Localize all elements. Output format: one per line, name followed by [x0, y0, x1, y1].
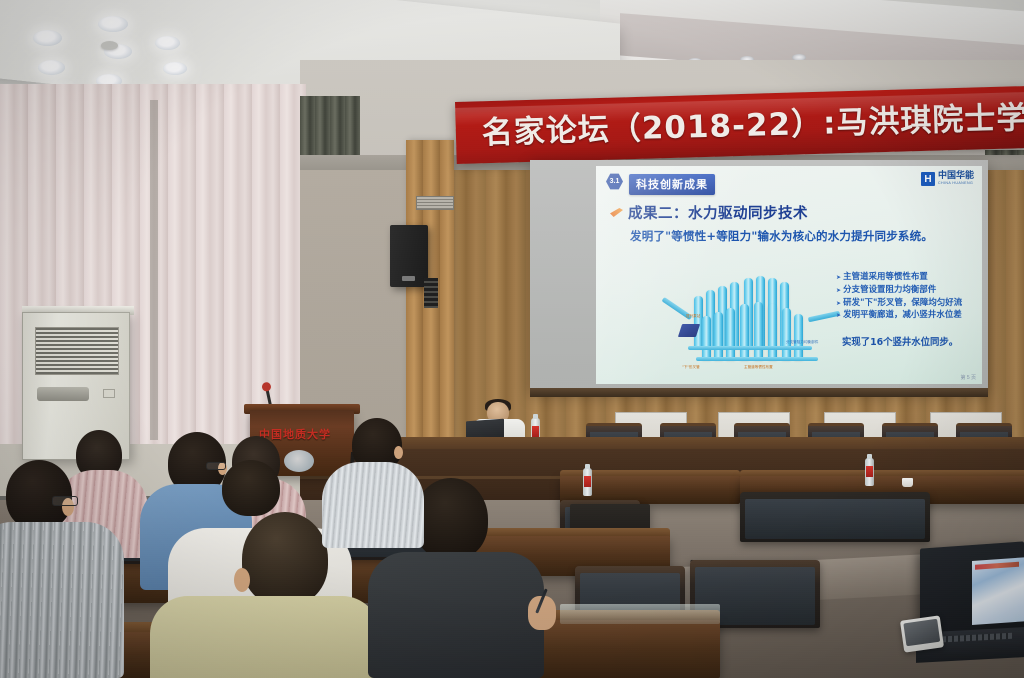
audience-chair[interactable]: [740, 492, 930, 542]
smoke-detector: [101, 41, 118, 50]
diagram-shaft: [754, 302, 763, 360]
lecture-hall-photo: 名家论坛（2018-22）:马洪琪院士学术报告会 3.1 科技创新成果 H 中国…: [0, 0, 1024, 678]
person-head: [242, 512, 328, 606]
diagram-main-pipe: [696, 357, 818, 361]
diagram-main-pipe: [688, 346, 812, 350]
person-torso: [150, 596, 380, 678]
air-conditioner-control-panel[interactable]: [37, 387, 89, 401]
huaneng-logo-mark: H: [921, 172, 935, 186]
ceiling-downlight: [33, 30, 62, 46]
huaneng-logo-cn: 中国华能: [938, 172, 974, 181]
projection-screen-frame: 3.1 科技创新成果 H 中国华能 CHINA HUANENG 成果二：水力驱动…: [530, 160, 988, 392]
huaneng-logo-en: CHINA HUANENG: [938, 182, 974, 186]
projected-slide: 3.1 科技创新成果 H 中国华能 CHINA HUANENG 成果二：水力驱动…: [596, 166, 982, 384]
ceiling-downlight: [38, 60, 65, 75]
slide-subtitle: 发明了"等惯性+等阻力"输水为核心的水力提升同步系统。: [630, 228, 933, 244]
slide-bullet: 发明平衡廊道，减小竖井水位差: [836, 308, 976, 321]
person-torso: [368, 552, 544, 678]
person-head: [414, 478, 488, 560]
slide-bullet: 分支管设置阻力均衡部件: [836, 283, 976, 296]
air-conditioner-grille: [35, 327, 119, 375]
slide-section-number: 3.1: [606, 173, 623, 190]
diagram-label: 主管道等惯性布置: [744, 365, 773, 370]
slide-bullet-list: 主管道采用等惯性布置 分支管设置阻力均衡部件 研发"下"形叉管，保障均匀好流 发…: [836, 270, 976, 321]
smartphone[interactable]: [900, 615, 944, 652]
huaneng-logo: H 中国华能 CHINA HUANENG: [921, 172, 974, 186]
ceiling-downlight: [98, 16, 128, 32]
slide-page-number: 第 5 页: [960, 374, 976, 381]
slide-bullet: 研发"下"形叉管，保障均匀好流: [836, 296, 976, 309]
eyeglasses: [206, 462, 226, 470]
slide-conclusion: 实现了16个竖井水位同步。: [842, 334, 958, 348]
ceiling-downlight: [155, 36, 180, 50]
diagram-shaft: [714, 312, 723, 360]
person-ear: [234, 568, 250, 592]
diagram-label: 分支管阻力均衡部件: [786, 340, 818, 345]
diagram-label: "下"形叉管: [682, 365, 700, 370]
water-bottle[interactable]: [865, 458, 874, 486]
person-torso: [0, 522, 124, 678]
speaker-cable: [424, 278, 438, 308]
person-torso: [322, 462, 424, 548]
slide-bullet: 主管道采用等惯性布置: [836, 270, 976, 283]
diagram-shaft: [726, 308, 735, 360]
banner-title: 名家论坛（2018-22）:马洪琪院士学术报告会: [481, 88, 1024, 152]
slide-diagram: 提升泵站 "下"形叉管 主管道等惯性布置 分支管阻力均衡部件: [658, 262, 838, 366]
desk-glass-top: [560, 604, 720, 624]
podium-label: 中国地质大学: [259, 426, 331, 442]
diagram-label: 提升泵站: [686, 314, 700, 319]
water-bottle[interactable]: [583, 468, 592, 496]
slide-section-title: 科技创新成果: [629, 174, 715, 195]
speaker-badge: [402, 276, 415, 281]
diagram-shaft: [768, 304, 777, 360]
person-head: [222, 460, 280, 516]
air-conditioner-display: [103, 389, 115, 398]
person-ear: [394, 446, 403, 459]
diagram-shaft: [740, 304, 749, 360]
window-mullion: [150, 100, 158, 440]
diagram-shaft: [782, 308, 791, 360]
wall-speaker: [390, 225, 428, 287]
eyeglasses: [52, 496, 78, 506]
paper-cup[interactable]: [902, 478, 913, 487]
university-emblem: [284, 450, 314, 472]
diagram-shaft: [794, 314, 803, 360]
laptop-screen-content: [972, 557, 1024, 625]
air-vent-diffuser: [416, 196, 454, 210]
screen-bottom-rail: [530, 388, 988, 397]
ceiling-downlight: [163, 62, 187, 75]
person-head: [6, 460, 72, 530]
diagram-shaft: [702, 316, 711, 360]
slide-title: 成果二：水力驱动同步技术: [628, 202, 808, 223]
slide-title-marker-icon: [610, 208, 623, 217]
